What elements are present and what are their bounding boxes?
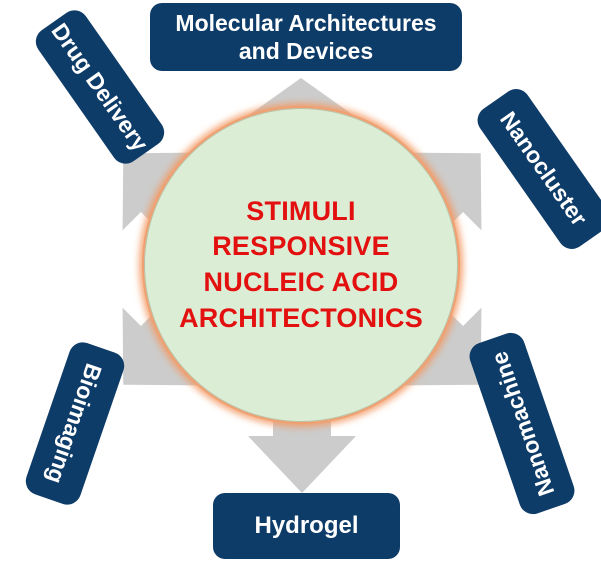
node-bioimaging[interactable]: Bioimaging [22,339,128,509]
node-label-drug-delivery: Drug Delivery [46,18,155,157]
node-label-hydrogel: Hydrogel [254,511,358,540]
node-label-nanocluster: Nanocluster [494,107,593,232]
node-label-bioimaging: Bioimaging [41,360,108,488]
node-drug-delivery[interactable]: Drug Delivery [30,5,169,169]
diagram-canvas: STIMULI RESPONSIVE NUCLEIC ACID ARCHITEC… [0,0,601,562]
node-label-molecular-architectures-and-devices: Molecular Architectures and Devices [175,9,436,65]
node-hydrogel[interactable]: Hydrogel [213,493,400,559]
node-label-nanomachine: Nanomachine [484,348,560,500]
center-circle [142,106,460,424]
node-molecular-architectures-and-devices[interactable]: Molecular Architectures and Devices [150,3,462,71]
node-nanomachine[interactable]: Nanomachine [466,329,578,518]
